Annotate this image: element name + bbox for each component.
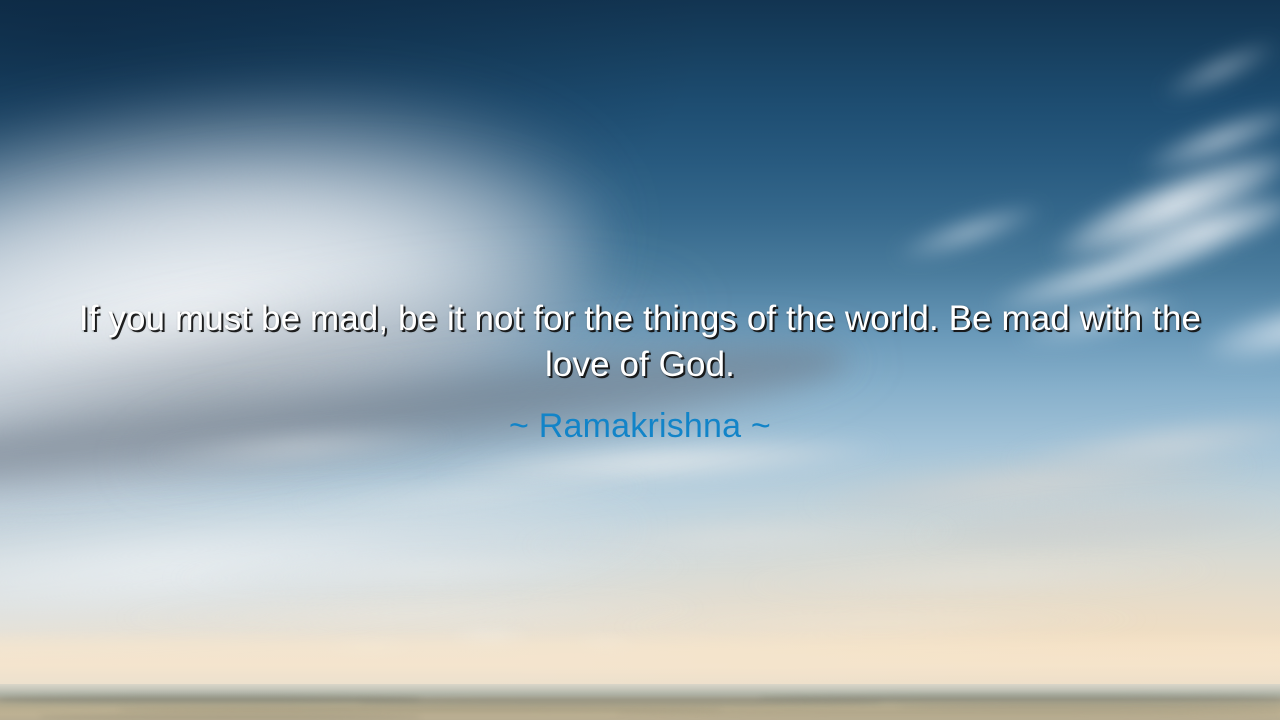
cirrus-wisp <box>1145 26 1280 114</box>
horizon-haze-band <box>0 630 1280 688</box>
ground-terrain-streak <box>0 696 420 703</box>
quote-attribution: ~ Ramakrishna ~ <box>60 405 1220 447</box>
ground-terrain-streak <box>900 704 1280 709</box>
ground-terrain-streak <box>40 714 420 720</box>
ground-terrain-streak <box>760 695 1280 702</box>
quote-text: If you must be mad, be it not for the th… <box>60 296 1220 388</box>
quote-wallpaper-scene: If you must be mad, be it not for the th… <box>0 0 1280 720</box>
quote-overlay: If you must be mad, be it not for the th… <box>0 296 1280 447</box>
ground-terrain-streak <box>620 710 1280 716</box>
stratus-streak <box>700 550 1261 604</box>
